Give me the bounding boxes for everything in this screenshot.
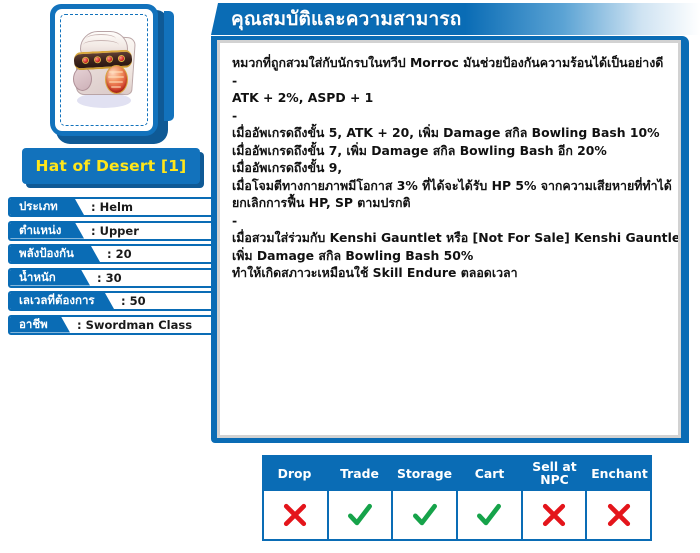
description-line: ยกเลิกการฟื้น HP, SP ตามปรกติ	[232, 194, 666, 212]
description-line: เมื่ออัพเกรดถึงขั้น 5, ATK + 20, เพิ่ม D…	[232, 124, 666, 142]
permission-column-header: Sell at NPC	[522, 455, 587, 491]
description-line: ทำให้เกิดสภาวะเหมือนใช้ Skill Endure ตลอ…	[232, 264, 666, 282]
check-icon	[346, 501, 374, 529]
permission-table: DropTradeStorageCartSell at NPCEnchant	[262, 455, 652, 543]
hat-jewel	[105, 65, 128, 94]
stat-row: ตำแหน่ง: Upper	[8, 221, 220, 241]
description-line: -	[232, 72, 666, 90]
description-line: ATK + 2%, ASPD + 1	[232, 89, 666, 107]
stat-value: : Swordman Class	[77, 317, 192, 333]
permission-column-header: Drop	[262, 455, 327, 491]
permission-cell	[262, 491, 329, 541]
stat-label: เลเวลที่ต้องการ	[10, 293, 114, 309]
card-inner	[55, 9, 153, 131]
stat-label: อาชีพ	[10, 317, 70, 333]
stat-value: : 20	[107, 246, 132, 262]
stat-label: ตำแหน่ง	[10, 223, 84, 239]
stat-row: พลังป้องกัน: 20	[8, 244, 220, 264]
stat-row: น้ำหนัก: 30	[8, 268, 220, 288]
hat-gem	[83, 58, 88, 63]
permission-cell	[458, 491, 523, 541]
cross-icon	[281, 501, 309, 529]
description-line: หมวกที่ถูกสวมใส่กับนักรบในทวีป Morroc มั…	[232, 54, 666, 72]
description-line: เมื่ออัพเกรดถึงขั้น 7, เพิ่ม Damage สกิล…	[232, 142, 666, 160]
permission-column-header: Cart	[457, 455, 522, 491]
item-stat-list: ประเภท: Helmตำแหน่ง: Upperพลังป้องกัน: 2…	[8, 197, 220, 338]
stat-label: พลังป้องกัน	[10, 246, 100, 262]
stat-row: เลเวลที่ต้องการ: 50	[8, 291, 220, 311]
stat-value: : 30	[97, 270, 122, 286]
stat-value: : 50	[121, 293, 146, 309]
permission-cell	[587, 491, 652, 541]
permission-cell	[329, 491, 394, 541]
description-line: เมื่ออัพเกรดถึงขั้น 9,	[232, 159, 666, 177]
stat-value: : Helm	[91, 199, 133, 215]
stat-row: ประเภท: Helm	[8, 197, 220, 217]
description-line: -	[232, 212, 666, 230]
item-image-card	[50, 4, 168, 144]
check-icon	[411, 501, 439, 529]
card-notch	[164, 11, 174, 121]
permission-column-header: Enchant	[587, 455, 652, 491]
permission-column-header: Trade	[327, 455, 392, 491]
desert-hat-icon	[67, 29, 141, 105]
description-line: -	[232, 107, 666, 125]
hat-gem	[95, 57, 100, 62]
section-header-bar: คุณสมบัติและความสามารถ	[211, 3, 700, 35]
permission-cell	[523, 491, 588, 541]
card-body	[50, 4, 158, 136]
item-name-label: Hat of Desert [1]	[36, 157, 187, 175]
permission-cell	[393, 491, 458, 541]
hat-fold-lower	[83, 40, 119, 50]
hat-shadow	[77, 93, 131, 108]
stat-value: : Upper	[91, 223, 139, 239]
permission-column-header: Storage	[392, 455, 457, 491]
hat-gem	[119, 56, 124, 61]
description-text-area: หมวกที่ถูกสวมใส่กับนักรบในทวีป Morroc มั…	[220, 43, 678, 435]
description-panel: หมวกที่ถูกสวมใส่กับนักรบในทวีป Morroc มั…	[211, 36, 689, 443]
description-line: เมื่อโจมตีทางกายภาพมีโอกาส 3% ที่ได้จะได…	[232, 177, 666, 195]
cross-icon	[540, 501, 568, 529]
permission-table-header: DropTradeStorageCartSell at NPCEnchant	[262, 455, 652, 491]
check-icon	[475, 501, 503, 529]
stat-label: ประเภท	[10, 199, 84, 215]
item-name-badge: Hat of Desert [1]	[22, 148, 200, 184]
hat-side-disc	[73, 67, 92, 91]
stat-label: น้ำหนัก	[10, 270, 90, 286]
description-line: เมื่อสวมใส่ร่วมกับ Kenshi Gauntlet หรือ …	[232, 229, 666, 247]
description-line: เพิ่ม Damage สกิล Bowling Bash 50%	[232, 247, 666, 265]
hat-gem	[107, 56, 112, 61]
cross-icon	[605, 501, 633, 529]
section-title: คุณสมบัติและความสามารถ	[231, 4, 462, 34]
stat-row: อาชีพ: Swordman Class	[8, 315, 220, 335]
item-name-body: Hat of Desert [1]	[22, 148, 200, 184]
permission-table-row	[262, 491, 652, 541]
